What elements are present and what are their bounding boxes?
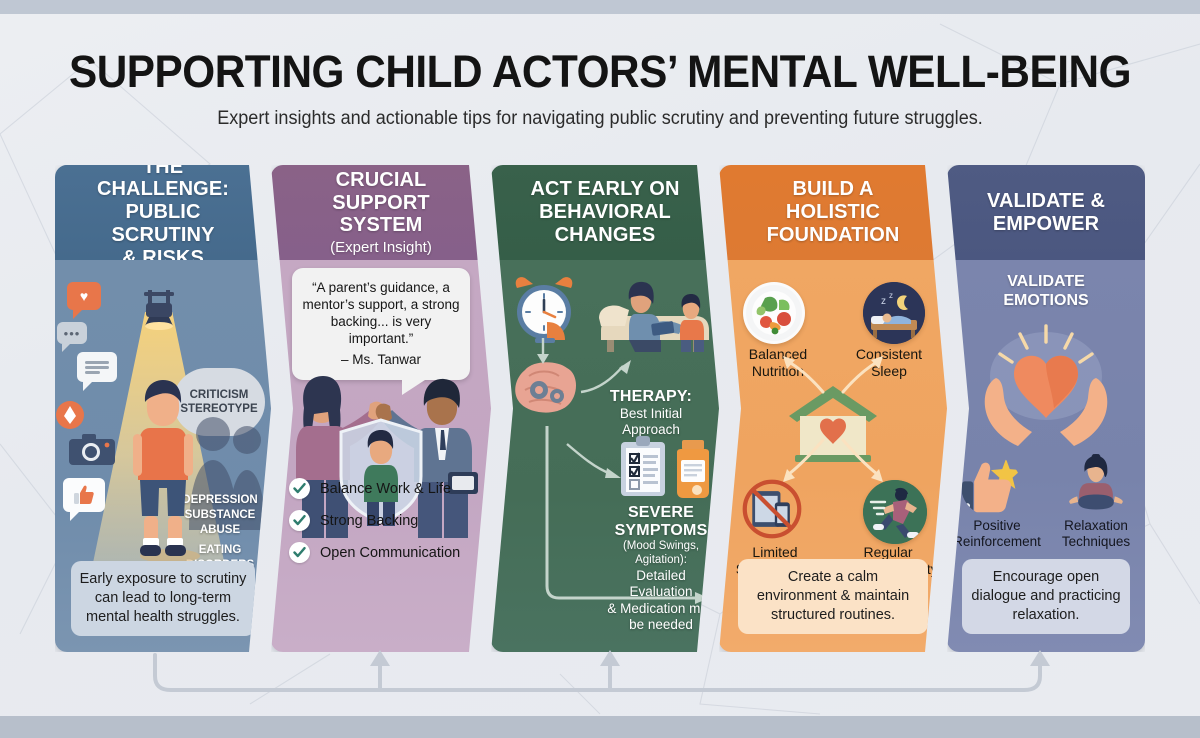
top-band	[0, 0, 1200, 14]
panel-3-header: ACT EARLY ON BEHAVIORAL CHANGES	[491, 165, 719, 260]
bottom-band	[0, 716, 1200, 738]
expert-quote-bubble: “A parent’s guidance, a mentor’s support…	[292, 268, 470, 380]
therapy-body-line-1: Best Initial	[589, 406, 713, 422]
checklist-label: Balance Work & Life	[320, 481, 451, 497]
chat-bubble-icon	[77, 352, 117, 391]
checklist-item[interactable]: Strong Backing	[289, 510, 460, 531]
panel-5-title-line-2: EMPOWER	[987, 213, 1105, 236]
positive-reinforcement-label: Positive Reinforcement	[947, 518, 1047, 550]
camera-icon	[69, 432, 115, 471]
label-line-1: Relaxation	[1047, 518, 1145, 534]
validate-line-1: VALIDATE	[947, 272, 1145, 291]
panel-2-title-line-1: CRUCIAL SUPPORT	[299, 169, 463, 215]
panel-3-body: THERAPY: Best Initial Approach	[491, 260, 719, 652]
regular-physical-activity-icon	[863, 480, 927, 544]
panel-3-title-line-1: ACT EARLY ON	[519, 178, 691, 201]
label-line-1: Positive	[947, 518, 1047, 534]
hands-holding-heart-icon	[960, 320, 1132, 448]
panel-2-body: “A parent’s guidance, a mentor’s support…	[271, 260, 491, 652]
panel-4[interactable]: PANEL 4 BUILD A HOLISTIC FOUNDATION	[719, 165, 947, 652]
meditation-icon	[1065, 454, 1127, 518]
check-circle-icon	[289, 542, 310, 563]
panel-4-title-line-1: BUILD A HOLISTIC	[747, 178, 919, 224]
heart-bubble-icon: ♥	[67, 282, 101, 319]
panel-3-flow-arrow	[541, 426, 713, 610]
label-line-2: Techniques	[1047, 534, 1145, 550]
checklist-label: Open Communication	[320, 545, 460, 561]
limited-screen-time-icon	[741, 478, 803, 540]
panel-5-footnote: Encourage open dialogue and practicing r…	[962, 559, 1130, 634]
panel-1-body: ♥ •••	[55, 260, 271, 652]
consistent-sleep-icon: z z	[863, 282, 925, 344]
thumbs-up-star-icon	[961, 456, 1021, 516]
brain-gears-icon	[507, 360, 583, 418]
checklist-item[interactable]: Balance Work & Life	[289, 478, 460, 499]
balanced-nutrition-icon	[743, 282, 805, 344]
child-actor-figure	[124, 376, 202, 564]
therapy-session-icon	[595, 278, 713, 354]
panel-4-header: BUILD A HOLISTIC FOUNDATION	[719, 165, 947, 260]
panel-2-title-line-2: SYSTEM	[299, 214, 463, 237]
validate-line-2: EMOTIONS	[947, 291, 1145, 310]
validate-emotions-label: VALIDATE EMOTIONS	[947, 272, 1145, 310]
panel-1-title-line-2: PUBLIC SCRUTINY	[83, 201, 243, 247]
label-line-1: Regular	[831, 544, 945, 561]
therapy-heading: THERAPY:	[589, 388, 713, 406]
burst-icon	[55, 400, 85, 435]
spotlight-scene: ♥ •••	[55, 260, 271, 590]
panel-2-checklist: Balance Work & Life Strong Backing Open …	[289, 478, 460, 574]
label-line-1: Limited	[723, 544, 827, 561]
panel-2[interactable]: PANEL 2 CRUCIAL SUPPORT SYSTEM (Expert I…	[271, 165, 491, 652]
panel-5-title-line-1: VALIDATE &	[987, 190, 1105, 213]
panel-2-subtitle: (Expert Insight)	[330, 239, 432, 256]
checklist-label: Strong Backing	[320, 513, 418, 529]
expert-quote-text: “A parent’s guidance, a mentor’s support…	[302, 279, 460, 348]
panel-1-title-line-1: THE CHALLENGE:	[83, 165, 243, 201]
page-subtitle: Expert insights and actionable tips for …	[30, 108, 1170, 130]
checklist-item[interactable]: Open Communication	[289, 542, 460, 563]
panel-3[interactable]: PANEL 3 ACT EARLY ON BEHAVIORAL CHANGES	[491, 165, 719, 652]
foundation-arrows	[719, 336, 947, 506]
check-circle-icon	[289, 478, 310, 499]
dots-bubble-icon: •••	[57, 322, 87, 352]
panel-5-body: VALIDATE EMOTIONS	[947, 260, 1145, 652]
expert-quote-attribution: – Ms. Tanwar	[302, 351, 460, 368]
panel-1[interactable]: PANEL 1 THE CHALLENGE: PUBLIC SCRUTINY &…	[55, 165, 271, 652]
panel-1-header: THE CHALLENGE: PUBLIC SCRUTINY & RISKS	[55, 165, 271, 260]
panel-2-header: CRUCIAL SUPPORT SYSTEM (Expert Insight)	[271, 165, 491, 260]
arrow-icon	[531, 338, 555, 364]
svg-text:z: z	[889, 291, 893, 300]
panel-4-title-line-2: FOUNDATION	[747, 224, 919, 247]
panel-4-body: Balanced Nutrition z z	[719, 260, 947, 652]
alarm-clock-icon	[507, 274, 581, 344]
thumbs-up-icon	[63, 478, 105, 521]
panel-5-header: VALIDATE & EMPOWER	[947, 165, 1145, 260]
panel-4-footnote: Create a calm environment & maintain str…	[738, 559, 928, 634]
check-circle-icon	[289, 510, 310, 531]
svg-text:z: z	[881, 296, 886, 307]
panel-5[interactable]: PANEL 5 VALIDATE & EMPOWER VALIDATE EMOT…	[947, 165, 1145, 652]
label-line-2: Reinforcement	[947, 534, 1047, 550]
spotlight-icon	[132, 290, 186, 330]
relaxation-techniques-label: Relaxation Techniques	[1047, 518, 1145, 550]
infographic-canvas: SUPPORTING CHILD ACTORS’ MENTAL WELL-BEI…	[0, 0, 1200, 738]
panel-1-footnote: Early exposure to scrutiny can lead to l…	[71, 561, 255, 636]
panel-3-title-line-2: BEHAVIORAL CHANGES	[519, 201, 691, 247]
page-title: SUPPORTING CHILD ACTORS’ MENTAL WELL-BEI…	[36, 46, 1164, 98]
